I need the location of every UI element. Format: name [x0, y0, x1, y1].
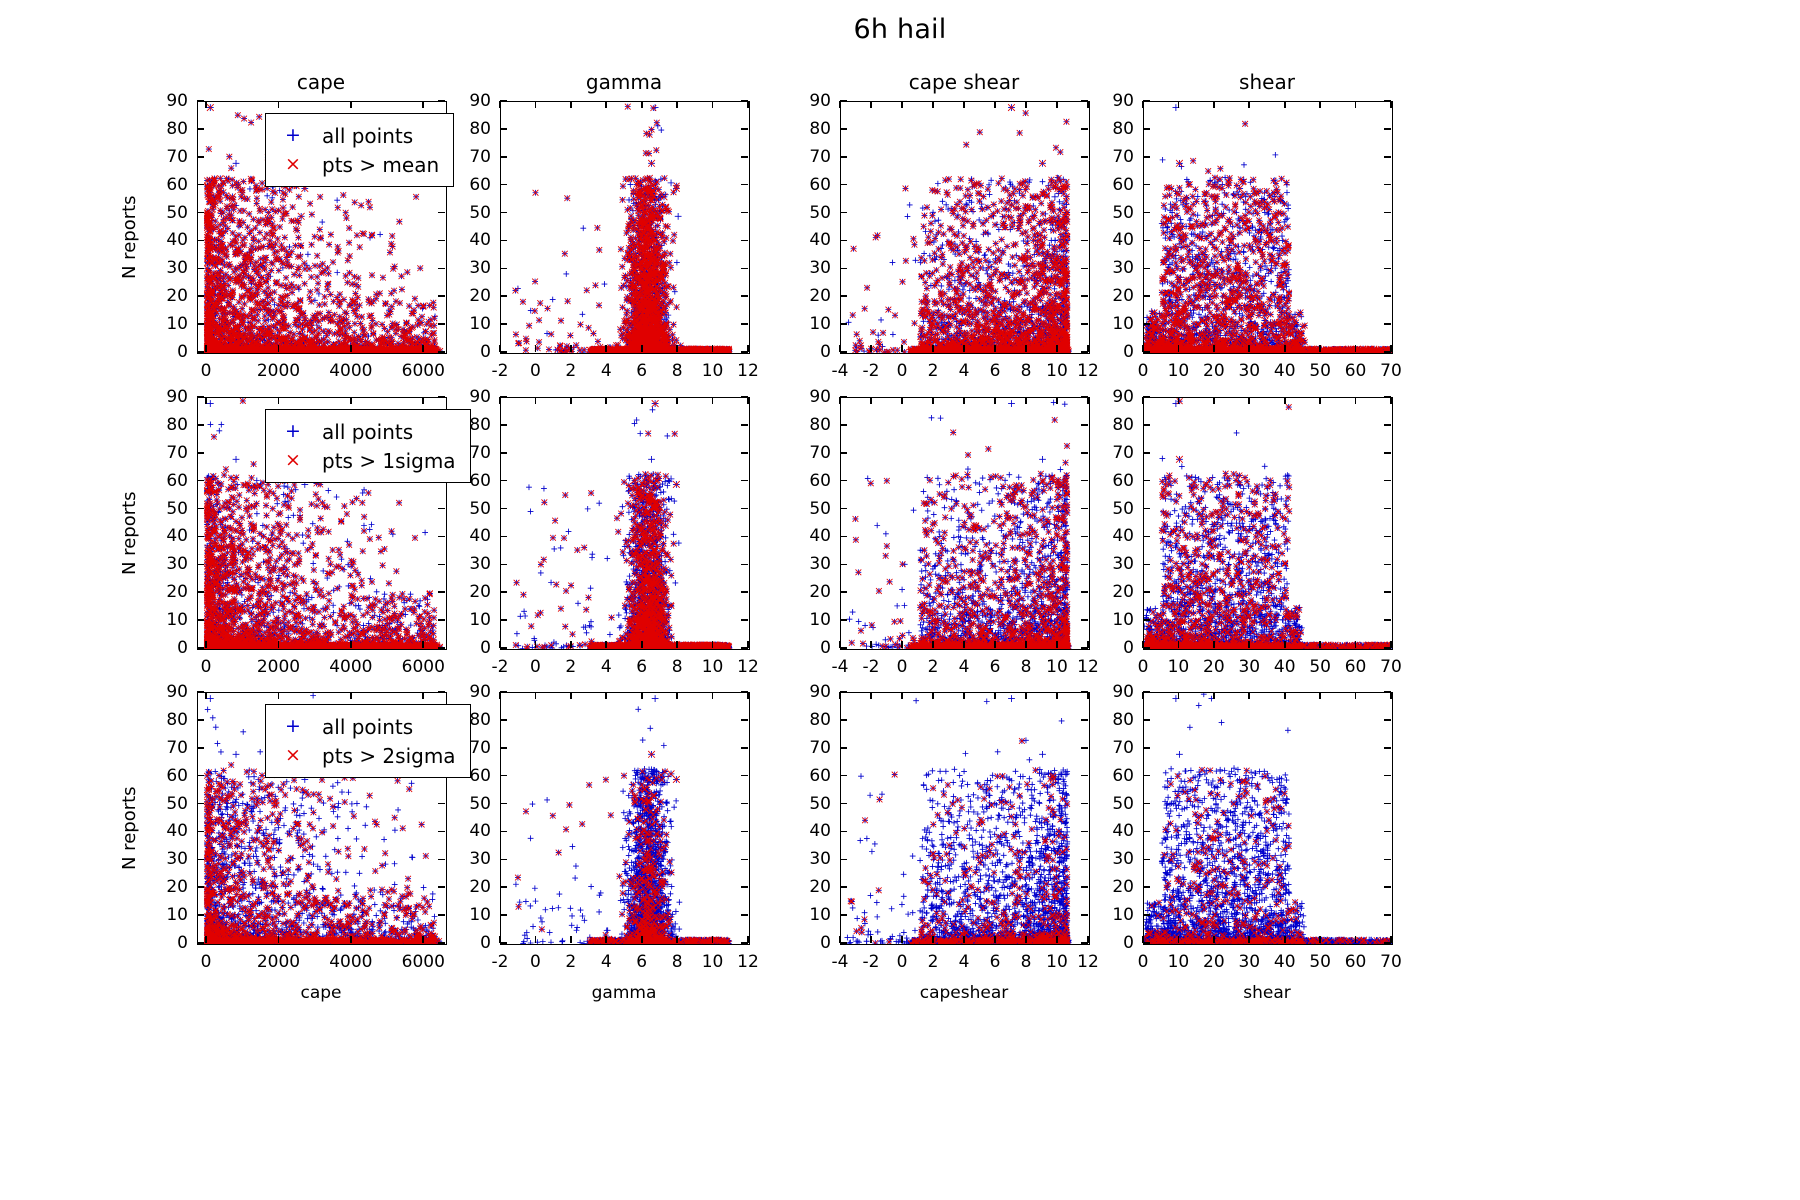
y-tickmark — [741, 424, 748, 426]
y-tickmark — [840, 775, 847, 777]
x-tickmark — [422, 692, 424, 699]
y-tickmark — [741, 508, 748, 510]
x-tick-label: 40 — [1274, 657, 1296, 677]
scatter-points — [1144, 693, 1392, 944]
x-tickmark — [535, 692, 537, 699]
y-tickmark — [1143, 268, 1150, 270]
x-tickmark — [1142, 692, 1144, 699]
cross-marker-icon: × — [276, 746, 310, 765]
x-tickmark — [1142, 101, 1144, 108]
x-tickmark — [712, 692, 714, 699]
y-tickmark — [1081, 619, 1088, 621]
x-tick-label: 0 — [1138, 361, 1149, 381]
series-all-points — [844, 695, 1071, 944]
y-tick-label: 50 — [1112, 499, 1134, 519]
y-tick-label: 80 — [166, 119, 188, 139]
x-tickmark — [870, 101, 872, 108]
y-tickmark — [741, 128, 748, 130]
x-tickmark — [932, 345, 934, 352]
y-tickmark — [840, 803, 847, 805]
y-tick-label: 20 — [166, 286, 188, 306]
y-tick-label: 0 — [1123, 342, 1134, 362]
y-tickmark — [1081, 424, 1088, 426]
x-tickmark — [605, 692, 607, 699]
x-tick-label: 4 — [959, 361, 970, 381]
x-tickmark — [1284, 641, 1286, 648]
x-tickmark — [535, 641, 537, 648]
x-tick-label: -4 — [832, 952, 849, 972]
y-tickmark — [438, 564, 445, 566]
y-tick-label: 40 — [1112, 821, 1134, 841]
y-tickmark — [1384, 323, 1391, 325]
y-tickmark — [741, 831, 748, 833]
y-tickmark — [741, 295, 748, 297]
y-tickmark — [500, 240, 507, 242]
y-tickmark — [741, 859, 748, 861]
y-tickmark — [1384, 859, 1391, 861]
y-tickmark — [1143, 564, 1150, 566]
y-tick-label: 80 — [166, 710, 188, 730]
x-tickmark — [963, 345, 965, 352]
x-tickmark — [839, 101, 841, 108]
x-tickmark — [747, 345, 749, 352]
x-tickmark — [676, 936, 678, 943]
y-tickmark — [1081, 564, 1088, 566]
y-tickmark — [197, 942, 204, 944]
legend-row1: +all points×pts > mean — [265, 113, 454, 187]
panel-title-1: gamma — [500, 70, 748, 94]
y-tickmark — [1143, 396, 1150, 398]
x-tick-label: 10 — [1046, 657, 1068, 677]
x-tick-label: 40 — [1274, 952, 1296, 972]
y-tick-label: 10 — [469, 610, 491, 630]
series-subset — [513, 104, 733, 353]
y-tick-label: 90 — [809, 91, 831, 111]
x-tickmark — [901, 936, 903, 943]
x-tick-label: 50 — [1309, 361, 1331, 381]
y-tickmark — [1143, 691, 1150, 693]
y-tickmark — [500, 619, 507, 621]
y-tick-label: 60 — [809, 471, 831, 491]
x-tickmark — [1178, 397, 1180, 404]
y-tick-label: 50 — [469, 499, 491, 519]
x-tickmark — [1248, 397, 1250, 404]
y-tickmark — [1143, 184, 1150, 186]
y-tickmark — [197, 591, 204, 593]
y-tickmark — [500, 424, 507, 426]
plot-area — [840, 101, 1090, 354]
x-tickmark — [1178, 101, 1180, 108]
y-tickmark — [500, 691, 507, 693]
x-axis-label: capeshear — [840, 983, 1088, 1003]
x-tickmark — [1213, 641, 1215, 648]
x-tickmark — [1142, 641, 1144, 648]
x-tick-label: 0 — [530, 952, 541, 972]
cross-marker-icon: × — [276, 155, 310, 174]
y-tick-label: 0 — [1123, 638, 1134, 658]
y-tickmark — [1081, 508, 1088, 510]
x-axis-label: cape — [197, 983, 445, 1003]
x-tickmark — [870, 345, 872, 352]
plot-area — [1143, 101, 1393, 354]
y-tickmark — [840, 886, 847, 888]
x-tickmark — [839, 345, 841, 352]
x-tickmark — [605, 397, 607, 404]
y-tickmark — [500, 775, 507, 777]
x-tickmark — [1319, 397, 1321, 404]
y-tickmark — [1081, 323, 1088, 325]
y-tick-label: 40 — [469, 230, 491, 250]
y-tick-label: 20 — [166, 877, 188, 897]
y-tick-label: 50 — [1112, 203, 1134, 223]
y-tickmark — [1143, 323, 1150, 325]
x-tick-label: 50 — [1309, 657, 1331, 677]
y-tickmark — [197, 691, 204, 693]
y-tickmark — [1143, 591, 1150, 593]
x-tickmark — [901, 692, 903, 699]
x-tick-label: 4 — [959, 952, 970, 972]
y-tickmark — [1384, 128, 1391, 130]
y-tick-label: 50 — [469, 203, 491, 223]
x-tickmark — [1390, 345, 1392, 352]
y-tickmark — [1143, 831, 1150, 833]
x-tickmark — [1087, 641, 1089, 648]
y-tick-label: 10 — [809, 314, 831, 334]
y-tickmark — [1081, 212, 1088, 214]
legend-row3: +all points×pts > 2sigma — [265, 704, 471, 778]
x-tickmark — [1213, 692, 1215, 699]
y-tick-label: 70 — [809, 443, 831, 463]
y-tickmark — [1143, 536, 1150, 538]
x-tick-label: 2000 — [257, 657, 300, 677]
y-tickmark — [1384, 184, 1391, 186]
y-tickmark — [741, 803, 748, 805]
y-tick-label: 70 — [469, 147, 491, 167]
series-subset — [1144, 121, 1392, 353]
y-tickmark — [1143, 647, 1150, 649]
y-tick-label: 20 — [166, 582, 188, 602]
x-tick-label: 0 — [201, 952, 212, 972]
y-tickmark — [438, 508, 445, 510]
y-tickmark — [741, 323, 748, 325]
legend-entry-subset: ×pts > 2sigma — [276, 741, 456, 770]
y-tickmark — [1384, 747, 1391, 749]
y-tick-label: 60 — [469, 766, 491, 786]
scatter-points — [841, 693, 1089, 944]
y-tick-label: 0 — [177, 638, 188, 658]
y-tickmark — [500, 886, 507, 888]
plot-area — [500, 101, 750, 354]
y-tick-label: 10 — [809, 905, 831, 925]
y-tickmark — [197, 536, 204, 538]
y-tickmark — [1081, 886, 1088, 888]
y-tick-label: 0 — [480, 933, 491, 953]
x-tickmark — [205, 641, 207, 648]
y-tickmark — [500, 803, 507, 805]
x-tick-label: 6 — [990, 361, 1001, 381]
y-tickmark — [197, 184, 204, 186]
x-tickmark — [205, 345, 207, 352]
y-tick-label: 60 — [1112, 175, 1134, 195]
y-tickmark — [438, 268, 445, 270]
y-tick-label: 70 — [166, 147, 188, 167]
y-tickmark — [1384, 212, 1391, 214]
plot-area — [500, 692, 750, 945]
x-tickmark — [676, 397, 678, 404]
y-tickmark — [1143, 424, 1150, 426]
x-tickmark — [278, 936, 280, 943]
y-tick-label: 70 — [809, 738, 831, 758]
plus-marker-icon: + — [276, 422, 310, 441]
x-tickmark — [994, 641, 996, 648]
y-tick-label: 80 — [1112, 119, 1134, 139]
y-tickmark — [840, 268, 847, 270]
plot-area — [840, 397, 1090, 650]
x-tickmark — [499, 936, 501, 943]
x-tickmark — [1355, 101, 1357, 108]
x-tickmark — [1056, 101, 1058, 108]
y-tickmark — [197, 323, 204, 325]
plot-panel-r3c4: 0102030405060708090010203040506070shear — [1143, 692, 1391, 943]
x-tickmark — [901, 641, 903, 648]
x-tickmark — [1390, 641, 1392, 648]
y-tick-label: 20 — [809, 582, 831, 602]
y-tickmark — [1081, 536, 1088, 538]
x-tickmark — [205, 936, 207, 943]
y-tickmark — [840, 184, 847, 186]
y-tickmark — [1384, 536, 1391, 538]
y-tickmark — [197, 508, 204, 510]
x-tickmark — [870, 692, 872, 699]
x-tickmark — [1025, 345, 1027, 352]
plot-area — [1143, 397, 1393, 650]
y-tickmark — [1081, 719, 1088, 721]
x-tickmark — [641, 936, 643, 943]
legend-entry-subset: ×pts > 1sigma — [276, 446, 456, 475]
y-tickmark — [197, 564, 204, 566]
x-tick-label: 4000 — [329, 361, 372, 381]
y-tick-label: 30 — [469, 258, 491, 278]
y-tickmark — [741, 747, 748, 749]
y-tick-label: 60 — [1112, 766, 1134, 786]
y-tick-label: 30 — [809, 849, 831, 869]
y-tick-label: 0 — [480, 638, 491, 658]
y-axis-label: N reports — [119, 195, 140, 279]
y-tickmark — [500, 323, 507, 325]
y-tickmark — [1143, 859, 1150, 861]
x-tickmark — [747, 692, 749, 699]
legend-label-subset: pts > mean — [310, 153, 439, 177]
x-tickmark — [712, 101, 714, 108]
x-tick-label: 12 — [737, 657, 759, 677]
y-tickmark — [1384, 619, 1391, 621]
y-tick-label: 70 — [809, 147, 831, 167]
x-tickmark — [1284, 936, 1286, 943]
y-tickmark — [197, 914, 204, 916]
y-tickmark — [840, 396, 847, 398]
plot-panel-r1c2: gamma0102030405060708090-2024681012 — [500, 101, 748, 352]
x-tickmark — [535, 397, 537, 404]
y-tickmark — [197, 719, 204, 721]
x-tick-label: 0 — [897, 361, 908, 381]
y-tickmark — [500, 508, 507, 510]
y-tick-label: 10 — [469, 905, 491, 925]
x-tickmark — [570, 101, 572, 108]
y-tick-label: 90 — [469, 91, 491, 111]
x-tick-label: 2 — [565, 952, 576, 972]
series-subset — [204, 762, 442, 944]
y-tickmark — [1384, 564, 1391, 566]
y-tickmark — [197, 351, 204, 353]
x-tickmark — [1056, 397, 1058, 404]
y-tickmark — [500, 942, 507, 944]
y-tickmark — [741, 240, 748, 242]
panel-title-3: shear — [1143, 70, 1391, 94]
y-tickmark — [1384, 452, 1391, 454]
y-tickmark — [500, 859, 507, 861]
x-tickmark — [712, 936, 714, 943]
y-tickmark — [840, 942, 847, 944]
y-tickmark — [840, 719, 847, 721]
x-tickmark — [994, 345, 996, 352]
y-tickmark — [1384, 886, 1391, 888]
y-tick-label: 40 — [166, 230, 188, 250]
y-tick-label: 70 — [469, 738, 491, 758]
y-tickmark — [840, 859, 847, 861]
y-tickmark — [1384, 831, 1391, 833]
y-tick-label: 80 — [469, 415, 491, 435]
x-tickmark — [278, 641, 280, 648]
x-tickmark — [1178, 345, 1180, 352]
y-tickmark — [741, 775, 748, 777]
y-tick-label: 90 — [469, 682, 491, 702]
y-tickmark — [438, 886, 445, 888]
x-tickmark — [1355, 936, 1357, 943]
x-tick-label: 2 — [565, 657, 576, 677]
y-tick-label: 90 — [1112, 682, 1134, 702]
y-tickmark — [840, 212, 847, 214]
x-tickmark — [1319, 692, 1321, 699]
x-tickmark — [1284, 397, 1286, 404]
x-tickmark — [422, 936, 424, 943]
y-tick-label: 10 — [809, 610, 831, 630]
x-tickmark — [205, 692, 207, 699]
y-tickmark — [500, 564, 507, 566]
y-tick-label: 50 — [166, 203, 188, 223]
cross-marker-icon: × — [276, 451, 310, 470]
y-tickmark — [500, 480, 507, 482]
x-tick-label: 10 — [702, 361, 724, 381]
x-tickmark — [278, 345, 280, 352]
y-tickmark — [438, 691, 445, 693]
x-tickmark — [499, 692, 501, 699]
x-tick-label: -2 — [492, 952, 509, 972]
y-tickmark — [1143, 942, 1150, 944]
x-tickmark — [641, 692, 643, 699]
x-tickmark — [1355, 641, 1357, 648]
y-tickmark — [1081, 747, 1088, 749]
x-tickmark — [499, 101, 501, 108]
y-tickmark — [1081, 859, 1088, 861]
x-tickmark — [1284, 692, 1286, 699]
x-tick-label: -2 — [492, 657, 509, 677]
y-tick-label: 90 — [809, 682, 831, 702]
y-tickmark — [197, 396, 204, 398]
x-tickmark — [1248, 101, 1250, 108]
x-tick-label: 0 — [201, 361, 212, 381]
y-tick-label: 30 — [469, 554, 491, 574]
x-tickmark — [278, 101, 280, 108]
x-tick-label: 10 — [1046, 952, 1068, 972]
plot-panel-r1c1: cape0102030405060708090N reports02000400… — [197, 101, 445, 352]
y-tick-label: 40 — [166, 821, 188, 841]
x-tickmark — [932, 641, 934, 648]
x-tick-label: -2 — [863, 657, 880, 677]
y-tickmark — [1081, 156, 1088, 158]
x-tick-label: 0 — [897, 657, 908, 677]
y-tickmark — [1143, 914, 1150, 916]
x-tickmark — [641, 345, 643, 352]
x-tickmark — [350, 101, 352, 108]
y-tickmark — [1081, 480, 1088, 482]
y-tickmark — [1384, 775, 1391, 777]
x-tickmark — [350, 345, 352, 352]
x-tickmark — [535, 345, 537, 352]
y-tickmark — [197, 803, 204, 805]
y-tickmark — [438, 647, 445, 649]
y-tick-label: 40 — [166, 526, 188, 546]
x-tickmark — [839, 936, 841, 943]
y-tickmark — [500, 295, 507, 297]
y-tickmark — [438, 914, 445, 916]
x-tickmark — [1178, 692, 1180, 699]
y-tickmark — [1143, 619, 1150, 621]
x-tickmark — [499, 641, 501, 648]
y-tickmark — [500, 452, 507, 454]
y-tick-label: 30 — [166, 258, 188, 278]
y-tickmark — [1384, 914, 1391, 916]
y-tickmark — [197, 886, 204, 888]
legend-label-all-points: all points — [310, 715, 413, 739]
x-tick-label: 10 — [1168, 657, 1190, 677]
y-tickmark — [1384, 480, 1391, 482]
x-tick-label: 8 — [1021, 952, 1032, 972]
x-tickmark — [278, 692, 280, 699]
x-tickmark — [535, 101, 537, 108]
x-tick-label: 10 — [1168, 952, 1190, 972]
x-tick-label: 0 — [530, 657, 541, 677]
x-tickmark — [499, 345, 501, 352]
x-tickmark — [1284, 345, 1286, 352]
y-tickmark — [438, 351, 445, 353]
x-tickmark — [963, 692, 965, 699]
y-tickmark — [741, 268, 748, 270]
x-tick-label: 12 — [737, 952, 759, 972]
x-tick-label: 2000 — [257, 952, 300, 972]
y-tickmark — [500, 156, 507, 158]
x-tickmark — [350, 641, 352, 648]
x-tick-label: 10 — [702, 657, 724, 677]
x-tick-label: 6 — [636, 952, 647, 972]
y-tick-label: 30 — [809, 554, 831, 574]
y-tickmark — [1143, 240, 1150, 242]
x-tick-label: 20 — [1203, 952, 1225, 972]
y-tickmark — [197, 859, 204, 861]
y-axis-label: N reports — [119, 491, 140, 575]
y-tickmark — [840, 747, 847, 749]
y-tickmark — [197, 647, 204, 649]
y-tickmark — [741, 212, 748, 214]
